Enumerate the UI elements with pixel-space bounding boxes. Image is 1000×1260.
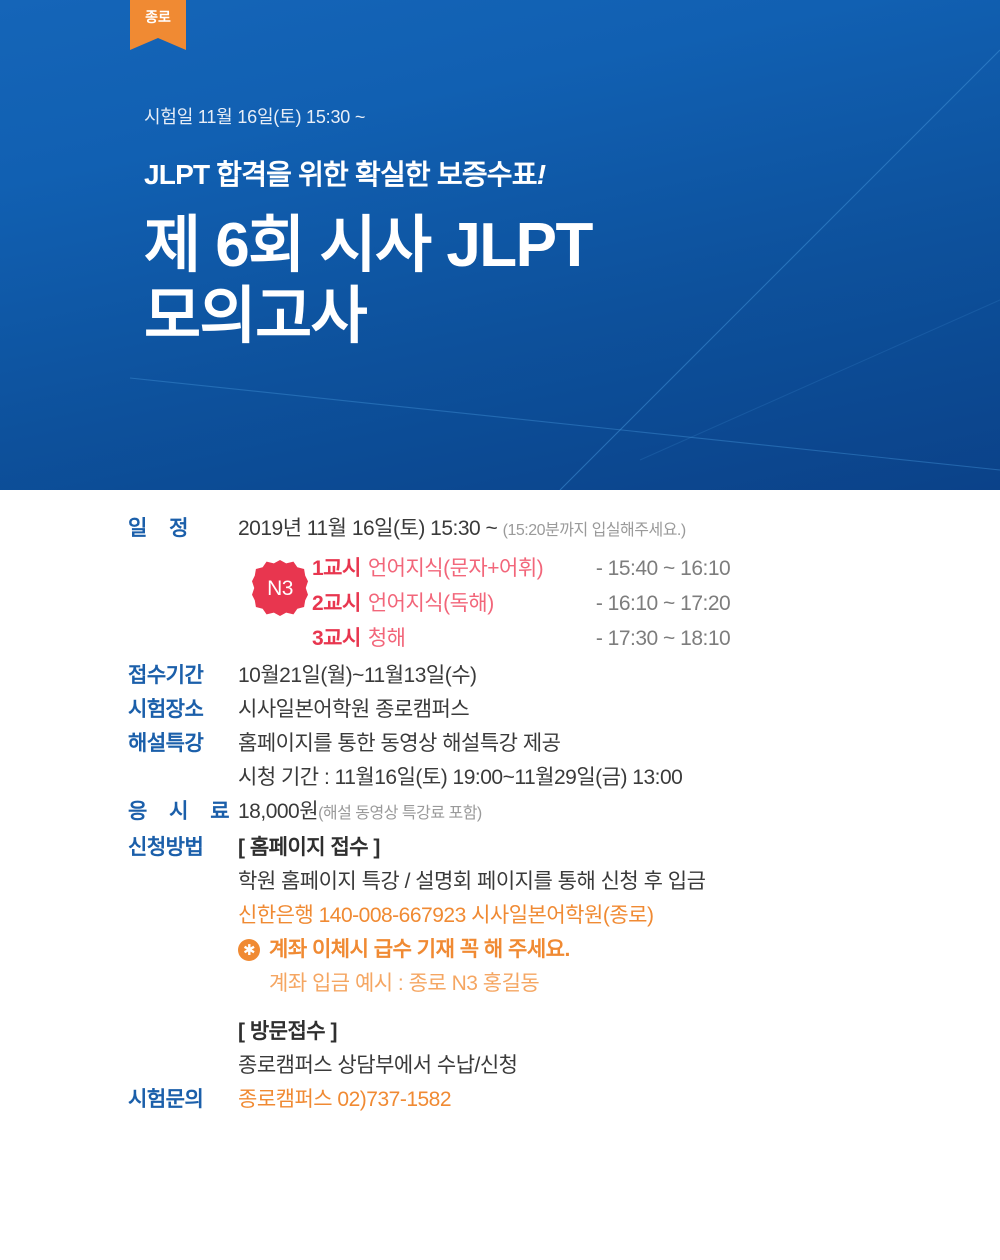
value-fee: 18,000원(해설 동영상 특강료 포함) [238,795,1000,831]
session-name: 언어지식(독해) [368,587,596,617]
visit-application-heading: [ 방문접수 ] [238,1015,1000,1049]
bank-account-value: 신한은행 140-008-667923 시사일본어학원(종로) [238,899,1000,933]
row-explanation-lecture-period: 시청 기간 : 11월16일(토) 19:00~11월29일(금) 13:00 [0,761,1000,795]
transfer-warning-text: 계좌 이체시 급수 기재 꼭 해 주세요. [269,933,570,967]
online-application-heading: [ 홈페이지 접수 ] [238,831,1000,865]
poster-root: 종로 시험일 11월 16일(토) 15:30 ~ JLPT 합격을 위한 확실… [0,0,1000,1260]
schedule-datetime: 2019년 11월 16일(토) 15:30 ~ [238,517,497,540]
spacer-before-visit [0,1001,1000,1015]
session-row: 3교시 청해 - 17:30 ~ 18:10 [128,622,1000,657]
label-fee: 응 시 료 [128,795,238,829]
transfer-warning-wrapper: ✱ 계좌 이체시 급수 기재 꼭 해 주세요. 계좌 입금 예시 : 종로 N3… [238,933,1000,1001]
transfer-warning-line: ✱ 계좌 이체시 급수 기재 꼭 해 주세요. [238,933,1000,967]
online-application-desc: 학원 홈페이지 특강 / 설명회 페이지를 통해 신청 후 입금 [238,865,1000,899]
row-how-to-apply: 신청방법 [ 홈페이지 접수 ] [0,831,1000,865]
row-online-application-desc: 학원 홈페이지 특강 / 설명회 페이지를 통해 신청 후 입금 [0,865,1000,899]
row-application-period: 접수기간 10월21일(월)~11월13일(수) [0,659,1000,693]
session-number: 3교시 [312,622,361,652]
hero-subtitle: JLPT 합격을 위한 확실한 보증수표! [144,153,592,193]
label-application-period: 접수기간 [128,659,238,693]
value-schedule: 2019년 11월 16일(토) 15:30 ~ (15:20분까지 입실해주세… [238,512,1000,548]
session-time: - 15:40 ~ 16:10 [596,557,730,581]
fee-note: (해설 동영상 특강료 포함) [318,805,482,822]
label-exam-place: 시험장소 [128,693,238,727]
row-transfer-warning: ✱ 계좌 이체시 급수 기재 꼭 해 주세요. 계좌 입금 예시 : 종로 N3… [0,933,1000,1001]
hero-title-line-2: 모의고사 [144,282,592,353]
session-list: N3 1교시 언어지식(문자+어휘) - 15:40 ~ 16:10 2교시 언… [0,548,1000,659]
session-time: - 17:30 ~ 18:10 [596,627,730,651]
session-time: - 16:10 ~ 17:20 [596,592,730,616]
info-section: 일 정 2019년 11월 16일(토) 15:30 ~ (15:20분까지 입… [0,490,1000,1117]
fee-amount: 18,000원 [238,800,318,823]
row-visit-desc: 종로캠퍼스 상담부에서 수납/신청 [0,1049,1000,1083]
level-badge-label: N3 [267,578,293,599]
row-schedule: 일 정 2019년 11월 16일(토) 15:30 ~ (15:20분까지 입… [0,512,1000,548]
label-schedule: 일 정 [128,512,238,546]
hero-subtitle-text: JLPT 합격을 위한 확실한 보증수표 [144,159,537,190]
deposit-example-text: 계좌 입금 예시 : 종로 N3 홍길동 [238,967,1000,1001]
hero-exam-date: 시험일 11월 16일(토) 15:30 ~ [144,103,592,129]
label-inquiry: 시험문의 [128,1083,238,1117]
row-explanation-lecture: 해설특강 홈페이지를 통한 동영상 해설특강 제공 [0,727,1000,761]
value-explanation-lecture-period: 시청 기간 : 11월16일(토) 19:00~11월29일(금) 13:00 [238,761,1000,795]
hero-subtitle-exclamation: ! [537,159,546,190]
label-explanation-lecture: 해설특강 [128,727,238,761]
row-visit-heading: [ 방문접수 ] [0,1015,1000,1049]
hero-text-block: 시험일 11월 16일(토) 15:30 ~ JLPT 합격을 위한 확실한 보… [144,0,592,352]
hero-title-line-1: 제 6회 시사 JLPT [144,211,592,282]
hero-banner: 종로 시험일 11월 16일(토) 15:30 ~ JLPT 합격을 위한 확실… [0,0,1000,490]
label-how-to-apply: 신청방법 [128,831,238,865]
row-exam-place: 시험장소 시사일본어학원 종로캠퍼스 [0,693,1000,727]
hero-title: 제 6회 시사 JLPT 모의고사 [144,211,592,352]
visit-application-desc: 종로캠퍼스 상담부에서 수납/신청 [238,1049,1000,1083]
value-explanation-lecture: 홈페이지를 통한 동영상 해설특강 제공 [238,727,1000,761]
level-badge-n3: N3 [252,560,308,616]
session-name: 청해 [368,622,596,652]
value-exam-place: 시사일본어학원 종로캠퍼스 [238,693,1000,727]
value-application-period: 10월21일(월)~11월13일(수) [238,659,1000,693]
session-number: 1교시 [312,552,361,582]
session-name: 언어지식(문자+어휘) [368,552,596,582]
inquiry-value: 종로캠퍼스 02)737-1582 [238,1083,1000,1117]
asterisk-icon: ✱ [238,939,260,961]
session-number: 2교시 [312,587,361,617]
campus-ribbon-label: 종로 [145,10,171,24]
row-fee: 응 시 료 18,000원(해설 동영상 특강료 포함) [0,795,1000,831]
row-bank-account: 신한은행 140-008-667923 시사일본어학원(종로) [0,899,1000,933]
row-inquiry: 시험문의 종로캠퍼스 02)737-1582 [0,1083,1000,1117]
schedule-note: (15:20분까지 입실해주세요.) [503,522,686,539]
